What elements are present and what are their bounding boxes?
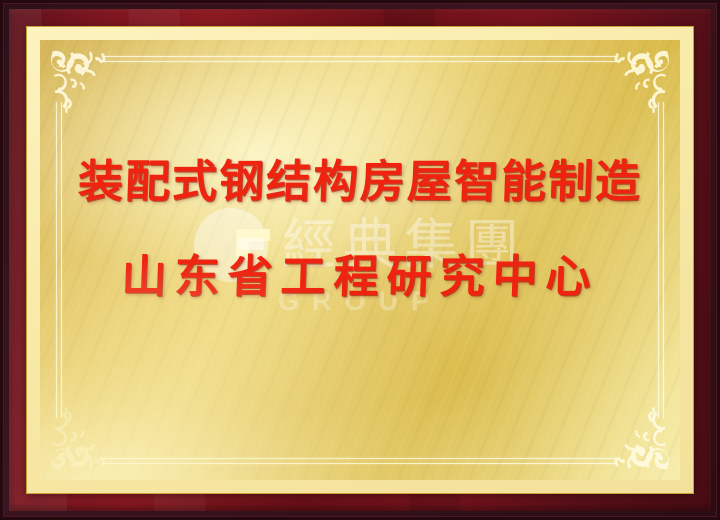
corner-flourish-icon xyxy=(46,388,132,474)
corner-flourish-icon xyxy=(588,46,674,132)
rule-top-outer xyxy=(102,56,618,57)
award-plaque: 經典集團 GROUP 装配式钢结构房屋智能制造 山东省工程研究中心 xyxy=(0,0,720,520)
rule-bottom-inner xyxy=(102,458,618,459)
plaque-title-line-1: 装配式钢结构房屋智能制造 xyxy=(40,158,680,207)
corner-flourish-icon xyxy=(46,46,132,132)
corner-flourish-icon xyxy=(588,388,674,474)
plaque-title-line-2: 山东省工程研究中心 xyxy=(40,253,680,302)
rule-top-inner xyxy=(102,61,618,62)
gold-panel: 經典集團 GROUP 装配式钢结构房屋智能制造 山东省工程研究中心 xyxy=(40,40,680,480)
plaque-title-block: 装配式钢结构房屋智能制造 山东省工程研究中心 xyxy=(40,158,680,301)
rule-bottom-outer xyxy=(102,463,618,464)
